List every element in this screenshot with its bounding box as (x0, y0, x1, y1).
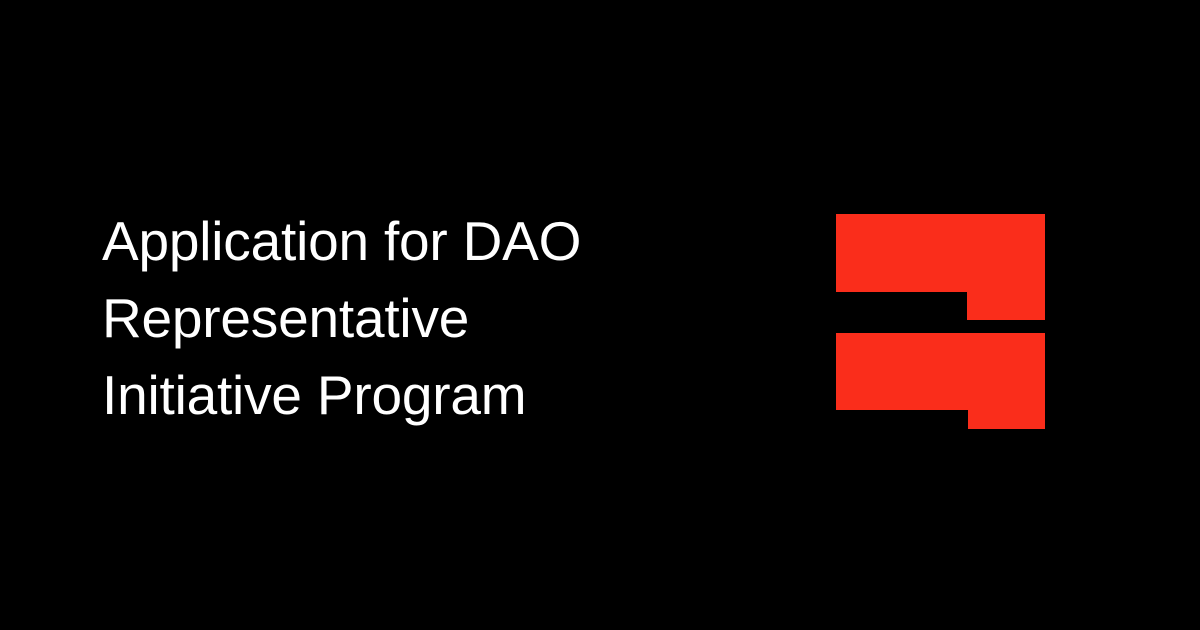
title-line-1: Application for DAO (102, 203, 722, 280)
logo-shape-upper (836, 214, 1045, 320)
title-line-3: Initiative Program (102, 357, 722, 434)
logo-shape-lower (836, 333, 1045, 429)
social-preview-card: Application for DAO Representative Initi… (0, 0, 1200, 630)
title-line-2: Representative (102, 280, 722, 357)
brand-logo-icon (836, 214, 1045, 429)
page-title: Application for DAO Representative Initi… (102, 203, 722, 434)
